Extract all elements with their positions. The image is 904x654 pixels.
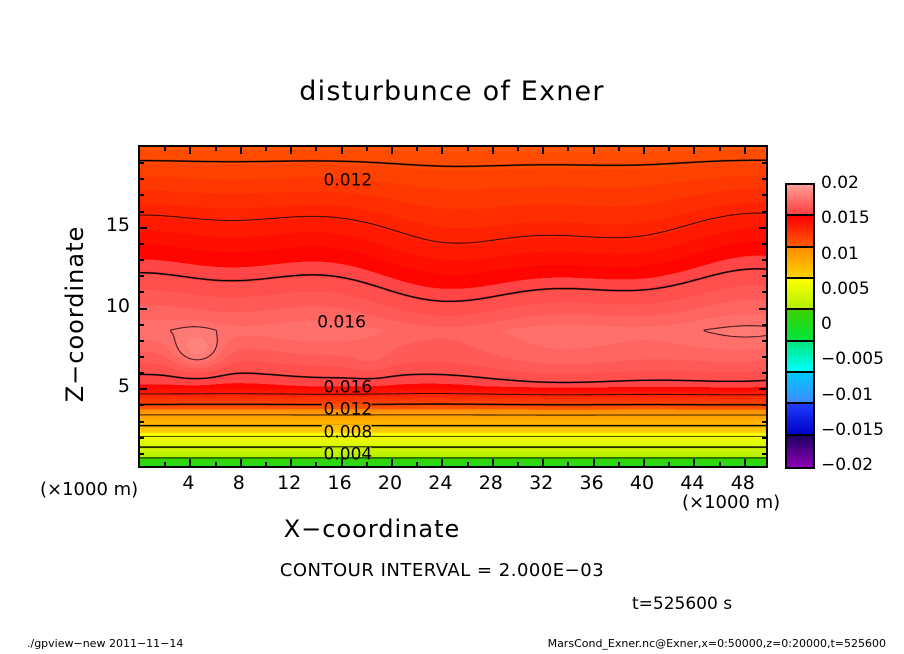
axis-tick [567, 147, 569, 151]
colorbar-tick-label: 0.005 [821, 279, 870, 299]
colorbar-band [787, 404, 813, 435]
axis-tick [492, 459, 494, 466]
axis-tick [762, 340, 766, 342]
axis-tick [567, 462, 569, 466]
axis-tick [759, 388, 766, 390]
contour-label: 0.012 [320, 403, 377, 418]
axis-tick [693, 147, 695, 154]
axis-tick [140, 404, 144, 406]
axis-tick [140, 308, 147, 310]
axis-tick [762, 178, 766, 180]
colorbar-tick-label: −0.02 [821, 455, 873, 475]
axis-tick [391, 459, 393, 466]
colorbar-tick-label: 0.02 [821, 173, 859, 193]
axis-tick [467, 462, 469, 466]
colorbar-tick-label: 0 [821, 314, 832, 334]
axis-tick [140, 388, 147, 390]
axis-tick [315, 462, 317, 466]
axis-tick [762, 453, 766, 455]
colorbar-tick-label: 0.015 [821, 208, 870, 228]
contour-interval-label: CONTOUR INTERVAL = 2.000E−03 [0, 560, 894, 581]
axis-tick [762, 372, 766, 374]
y-tick-label: 5 [92, 375, 130, 397]
page-title: disturbunce of Exner [0, 76, 904, 107]
footer-source-label: MarsCond_Exner.nc@Exner,x=0:50000,z=0:20… [548, 637, 886, 650]
footer-command-label: ./gpview−new 2011−11−14 [27, 637, 183, 650]
axis-tick [668, 462, 670, 466]
contour-label: 0.004 [320, 448, 377, 463]
axis-tick [441, 459, 443, 466]
contour-plot-area: 0.0120.0160.0160.0120.0080.004 [138, 145, 768, 468]
axis-tick [140, 324, 144, 326]
colorbar-band [787, 342, 813, 373]
axis-tick [693, 459, 695, 466]
axis-tick [542, 459, 544, 466]
axis-tick [762, 211, 766, 213]
axis-tick [517, 147, 519, 151]
x-axis-title: X−coordinate [0, 515, 824, 543]
axis-tick [215, 462, 217, 466]
colorbar-tick-label: −0.015 [821, 420, 884, 440]
axis-tick [416, 147, 418, 151]
axis-tick [290, 147, 292, 154]
axis-tick [441, 147, 443, 154]
axis-tick [762, 356, 766, 358]
contour-label: 0.012 [320, 173, 377, 188]
axis-tick [762, 259, 766, 261]
axis-tick [762, 194, 766, 196]
axis-tick [744, 147, 746, 154]
contour-label: 0.008 [320, 425, 377, 440]
x-tick-label: 48 [713, 472, 773, 494]
axis-tick [762, 275, 766, 277]
axis-tick [140, 372, 144, 374]
axis-tick [140, 211, 144, 213]
axis-tick [492, 147, 494, 154]
axis-tick [215, 147, 217, 151]
colorbar-band [787, 185, 813, 216]
axis-tick [759, 227, 766, 229]
axis-tick [140, 178, 144, 180]
axis-tick [265, 147, 267, 151]
contour-label: 0.016 [313, 316, 370, 331]
axis-tick [140, 259, 144, 261]
axis-tick [762, 437, 766, 439]
colorbar-band [787, 373, 813, 404]
axis-tick [164, 147, 166, 151]
colorbar-band [787, 310, 813, 341]
axis-tick [762, 162, 766, 164]
contour-field-canvas [140, 147, 766, 466]
axis-tick [719, 462, 721, 466]
axis-tick [593, 147, 595, 154]
axis-tick [643, 147, 645, 154]
axis-tick [189, 147, 191, 154]
axis-tick [618, 147, 620, 151]
axis-tick [290, 459, 292, 466]
axis-tick [341, 147, 343, 154]
axis-tick [467, 147, 469, 151]
axis-tick [140, 243, 144, 245]
axis-tick [315, 147, 317, 151]
time-label: t=525600 s [632, 594, 732, 614]
axis-tick [643, 459, 645, 466]
axis-tick [140, 291, 144, 293]
colorbar-tick-label: 0.01 [821, 244, 859, 264]
colorbar [785, 183, 815, 469]
x-axis-unit-right: (×1000 m) [682, 492, 780, 513]
axis-tick [762, 324, 766, 326]
axis-tick [240, 459, 242, 466]
axis-tick [140, 453, 144, 455]
y-tick-label: 10 [92, 295, 130, 317]
contour-label: 0.016 [320, 380, 377, 395]
axis-tick [189, 459, 191, 466]
axis-tick [240, 147, 242, 154]
y-tick-label: 15 [92, 214, 130, 236]
axis-tick [366, 147, 368, 151]
axis-tick [140, 194, 144, 196]
axis-tick [762, 243, 766, 245]
axis-tick [542, 147, 544, 154]
axis-tick [517, 462, 519, 466]
axis-tick [416, 462, 418, 466]
axis-tick [265, 462, 267, 466]
axis-tick [140, 437, 144, 439]
axis-tick [719, 147, 721, 151]
axis-tick [744, 459, 746, 466]
axis-tick [759, 308, 766, 310]
axis-tick [140, 356, 144, 358]
y-axis-title: Z−coordinate [61, 214, 89, 414]
axis-tick [164, 462, 166, 466]
axis-tick [618, 462, 620, 466]
colorbar-band [787, 279, 813, 310]
axis-tick [140, 227, 147, 229]
colorbar-tick-label: −0.005 [821, 349, 884, 369]
colorbar-band [787, 216, 813, 247]
axis-tick [140, 162, 144, 164]
axis-tick [140, 275, 144, 277]
axis-tick [391, 147, 393, 154]
x-axis-unit-left: (×1000 m) [40, 479, 138, 500]
axis-tick [668, 147, 670, 151]
axis-tick [593, 459, 595, 466]
axis-tick [762, 291, 766, 293]
axis-tick [762, 421, 766, 423]
colorbar-band [787, 436, 813, 467]
axis-tick [762, 404, 766, 406]
axis-tick [140, 421, 144, 423]
colorbar-tick-label: −0.01 [821, 385, 873, 405]
axis-tick [140, 340, 144, 342]
colorbar-band [787, 248, 813, 279]
